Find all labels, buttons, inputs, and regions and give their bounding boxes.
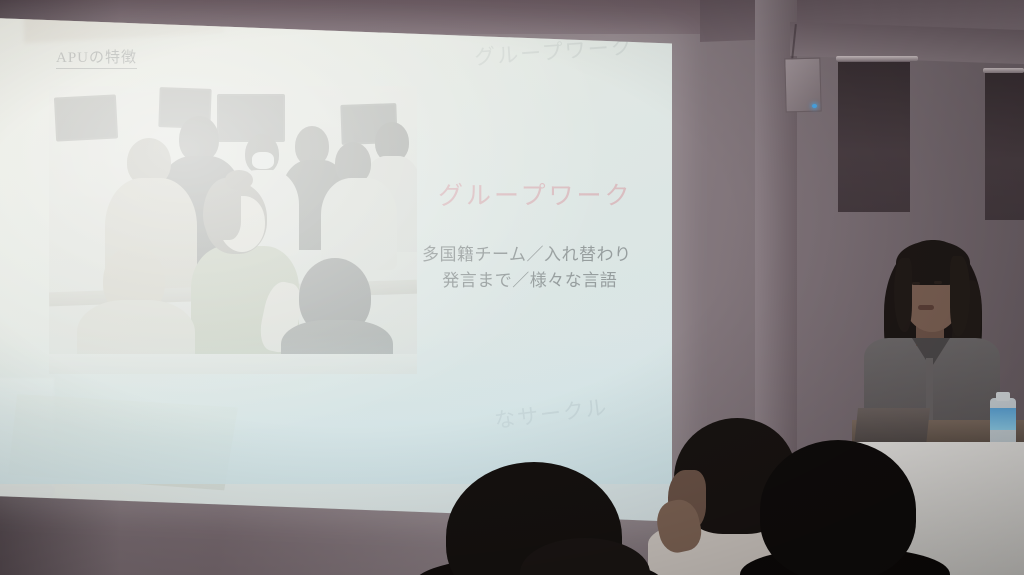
window-blind [985, 72, 1024, 220]
window-blind [838, 62, 910, 212]
presenter-mouth [918, 305, 934, 310]
lecture-room-photo: APUの特徴 グループワーク [0, 0, 1024, 575]
water-bottle-label [990, 408, 1016, 430]
blind-rail [836, 56, 918, 61]
slide-title: APUの特徴 [56, 46, 137, 69]
slide-ghost-text-bottom: なサークル [493, 391, 610, 435]
slide-photo-group-work [49, 86, 417, 374]
photo-table [49, 354, 417, 374]
photo-monitor [54, 94, 118, 141]
slide-body-line-1: 多国籍チーム／入れ替わり [422, 242, 632, 268]
blind-rail [983, 68, 1024, 73]
photo-person-hair-bun [225, 170, 253, 190]
sensor-led-icon [812, 104, 817, 108]
presenter-hair-side [894, 258, 912, 332]
presenter-eye [934, 281, 942, 284]
audience-member-head [760, 440, 916, 575]
water-bottle-cap [996, 392, 1010, 401]
laptop [854, 408, 930, 446]
presenter-eye [912, 282, 920, 285]
photo-monitor [217, 94, 285, 142]
slide-headline: グループワーク [438, 176, 633, 212]
photo-face-mask [252, 152, 274, 169]
projected-slide: APUの特徴 グループワーク [0, 18, 672, 484]
slide-body-text: 多国籍チーム／入れ替わり 発言まで／様々な言語 [422, 242, 632, 294]
slide-body-line-2: 発言まで／様々な言語 [428, 268, 632, 294]
photo-person-body [321, 178, 397, 270]
projection-screen: APUの特徴 グループワーク [0, 18, 672, 521]
